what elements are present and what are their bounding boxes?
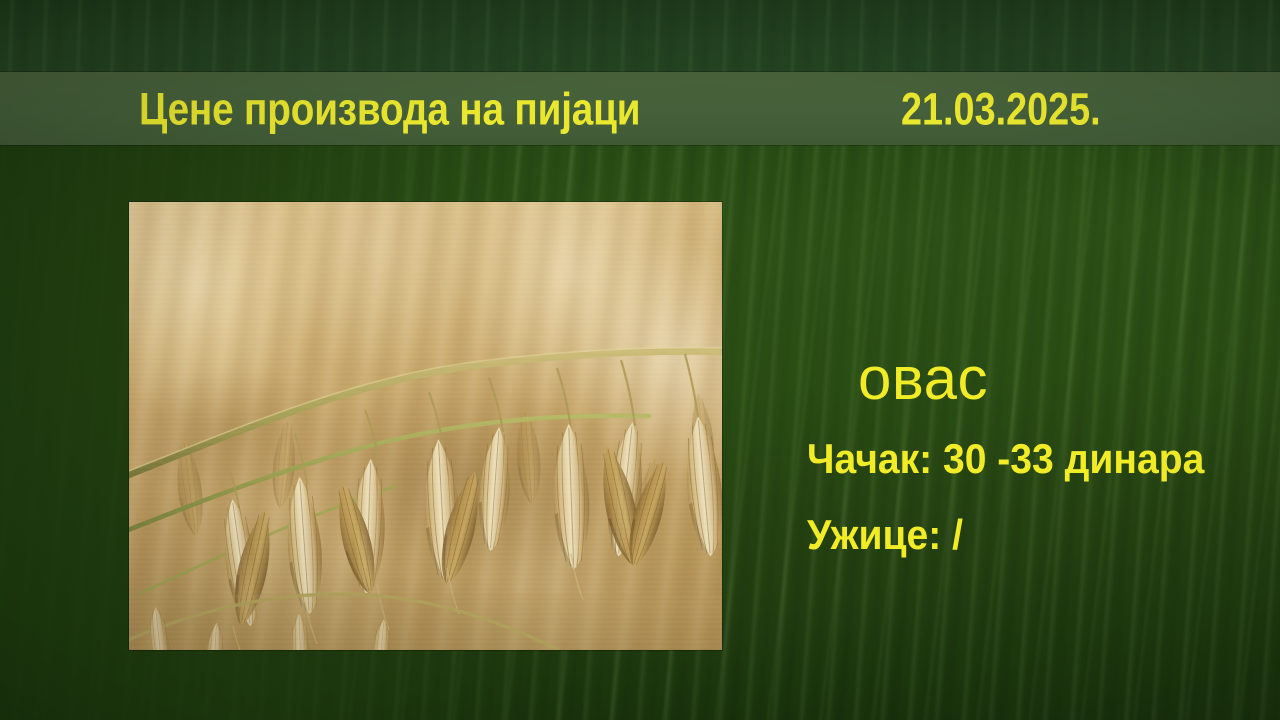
product-photo — [129, 202, 722, 650]
oat-spikelets-illustration — [129, 202, 722, 650]
product-name: овас — [858, 349, 988, 409]
page-title: Цене производа на пијаци — [139, 86, 640, 131]
broadcast-graphic-slide: Цене производа на пијаци 21.03.2025. — [0, 0, 1280, 720]
price-row-cacak: Чачак: 30 -33 динара — [807, 438, 1204, 480]
date-label: 21.03.2025. — [901, 86, 1101, 131]
price-row-uzice: Ужице: / — [807, 514, 963, 556]
header-banner: Цене производа на пијаци 21.03.2025. — [0, 72, 1280, 145]
background-top-strip-veins — [0, 0, 1280, 74]
